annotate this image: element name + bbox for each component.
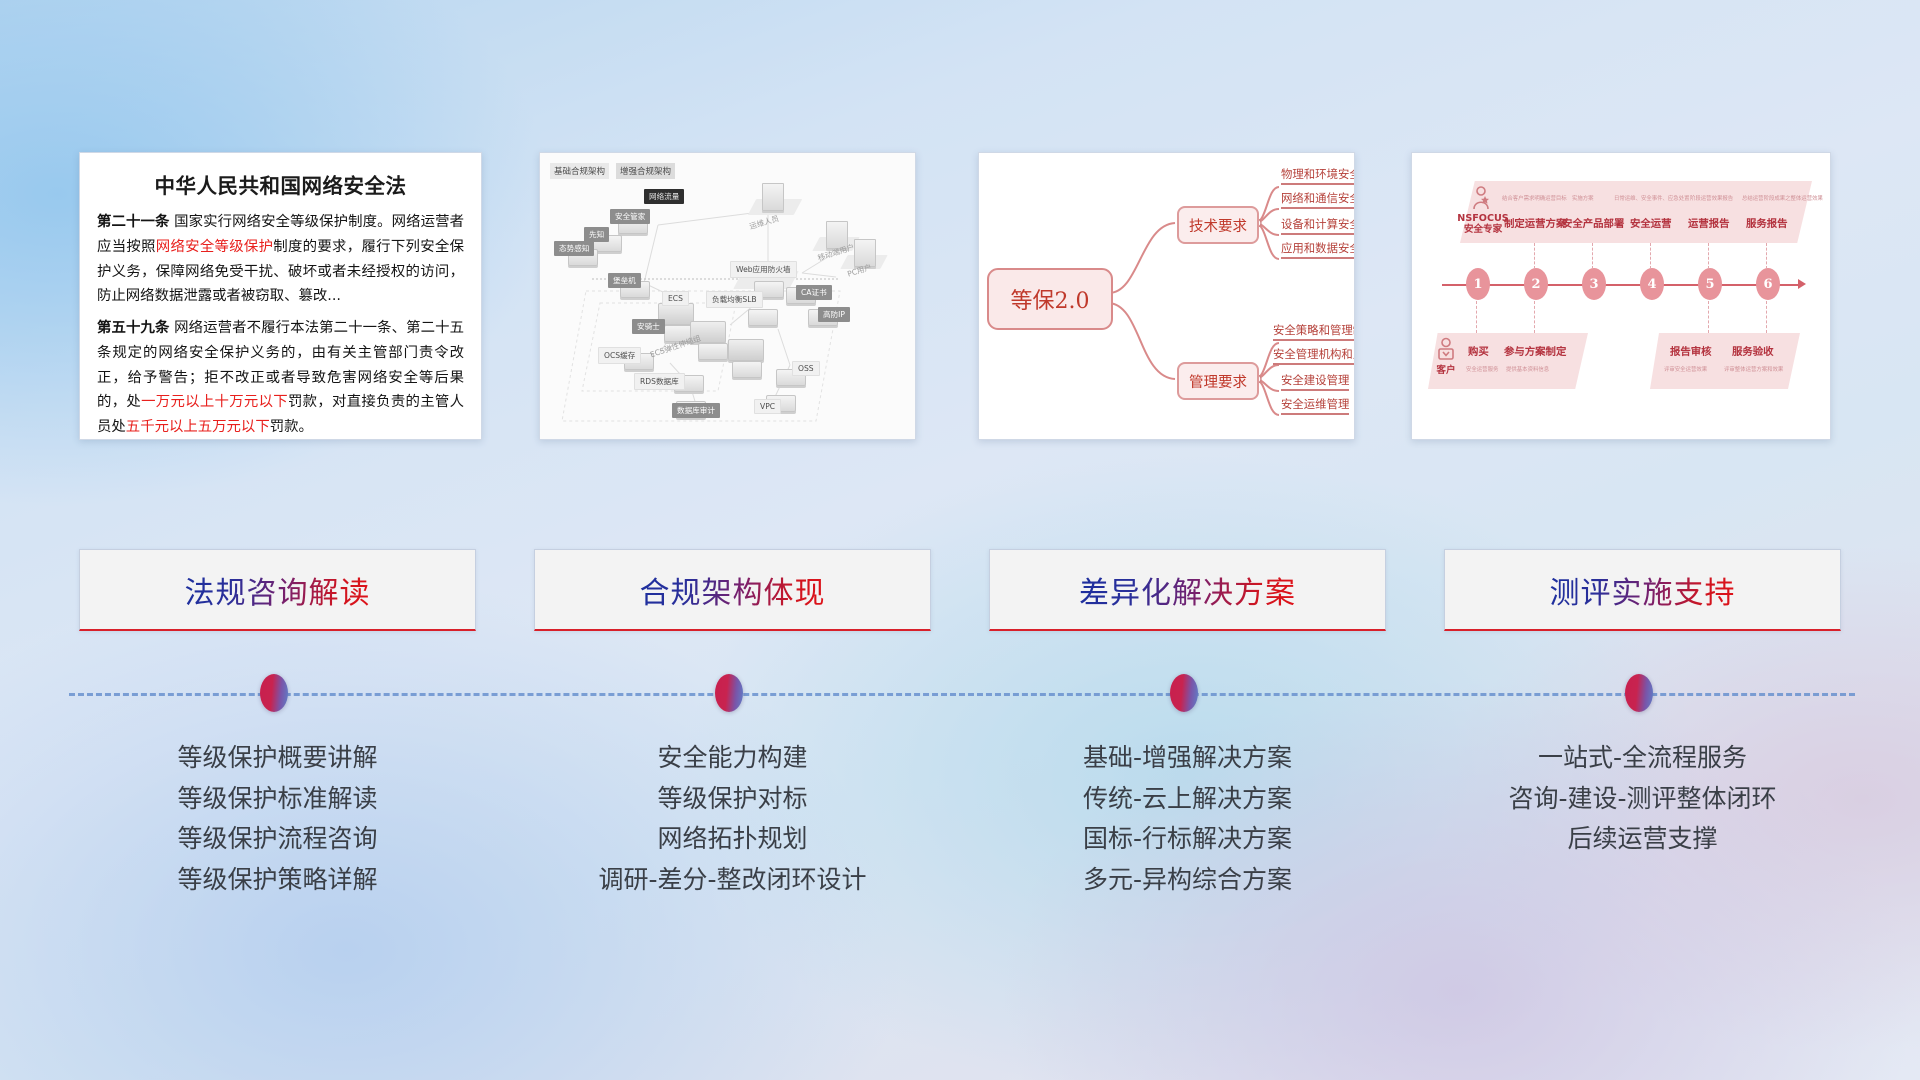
list-item: 等级保护对标 [534, 779, 931, 820]
process-bottom-label: 购买 [1468, 343, 1489, 358]
architecture-canvas: 基础合规架构 增强合规架构 [540, 153, 915, 439]
list-item: 调研-差分-整改闭环设计 [534, 860, 931, 901]
law-run-highlight: 网络安全等级保护 [156, 239, 274, 255]
list-item: 多元-异构综合方案 [989, 860, 1386, 901]
process-top-label: 安全运营 [1630, 215, 1672, 230]
process-role-provider-subtitle: 安全专家 [1464, 224, 1502, 235]
arch-label-db-audit: 数据库审计 [672, 403, 720, 418]
mindmap-leaf: 网络和通信安全 [1281, 191, 1355, 209]
process-top-note: 日常运维、安全事件、应急处置 [1614, 194, 1689, 202]
process-top-label: 运营报告 [1688, 215, 1730, 230]
section-title-box-4[interactable]: 测评实施支持 [1444, 549, 1841, 631]
process-tick [1766, 243, 1768, 269]
process-tick [1534, 301, 1536, 333]
arch-label-xianzhi: 先知 [584, 227, 609, 242]
list-item: 后续运营支撑 [1444, 819, 1841, 860]
section-title-label: 合规架构体现 [640, 568, 826, 612]
law-article-number: 第五十九条 [97, 320, 169, 336]
section-title-box-3[interactable]: 差异化解决方案 [989, 549, 1386, 631]
section-items-1: 等级保护概要讲解 等级保护标准解读 等级保护流程咨询 等级保护策略详解 [79, 738, 476, 900]
card-cybersecurity-law: 中华人民共和国网络安全法 第二十一条 国家实行网络安全等级保护制度。网络运营者应… [79, 152, 482, 440]
list-item: 基础-增强解决方案 [989, 738, 1386, 779]
law-run-text: 罚款。 [270, 419, 313, 435]
list-item: 等级保护概要讲解 [79, 738, 476, 779]
process-bottom-label: 服务验收 [1732, 343, 1774, 358]
law-title: 中华人民共和国网络安全法 [97, 169, 464, 199]
process-role-provider-name: NSFOCUS [1457, 213, 1508, 224]
arch-label-oss: OSS [792, 361, 820, 376]
section-items-2: 安全能力构建 等级保护对标 网络拓扑规划 调研-差分-整改闭环设计 [534, 738, 931, 900]
process-band-customer-right [1650, 333, 1800, 389]
arch-label-ca: CA证书 [796, 285, 832, 300]
arch-label-bastion: 堡垒机 [608, 273, 641, 288]
arch-label-ecs: ECS [662, 291, 689, 306]
section-title-label: 法规咨询解读 [185, 568, 371, 612]
process-tick [1766, 301, 1768, 333]
mindmap-root-node: 等保2.0 [987, 268, 1113, 330]
card-service-process-timeline: NSFOCUS 安全专家 客户 1 2 3 4 5 6 结合客户需求明确运营目标 [1411, 152, 1831, 440]
list-item: 国标-行标解决方案 [989, 819, 1386, 860]
timeline-dot-4[interactable] [1625, 674, 1653, 712]
arch-label-ocs: OCS缓存 [598, 347, 641, 364]
list-item: 一站式-全流程服务 [1444, 738, 1841, 779]
arch-label-vpc: VPC [754, 399, 781, 414]
list-item: 安全能力构建 [534, 738, 931, 779]
list-item: 网络拓扑规划 [534, 819, 931, 860]
arch-label-traffic: 网络流量 [644, 189, 684, 204]
process-top-note: 结合客户需求明确运营目标 [1502, 194, 1567, 202]
process-step-node[interactable]: 6 [1756, 268, 1780, 300]
process-tick [1708, 301, 1710, 333]
process-top-note: 总结运营阶段成果之整体运营效果 [1742, 194, 1823, 202]
section-items-3: 基础-增强解决方案 传统-云上解决方案 国标-行标解决方案 多元-异构综合方案 [989, 738, 1386, 900]
process-top-label: 制定运营方案 [1504, 215, 1566, 230]
list-item: 等级保护策略详解 [79, 860, 476, 901]
process-bottom-label: 参与方案制定 [1504, 343, 1566, 358]
card-dengbao-mindmap: 等保2.0 技术要求 管理要求 物理和环境安全 网络和通信安全 设备和计算安全 … [978, 152, 1355, 440]
timeline-dot-1[interactable] [260, 674, 288, 712]
mindmap-leaf: 物理和环境安全 [1281, 167, 1355, 185]
arch-node-icon [732, 361, 762, 378]
process-tick [1476, 301, 1478, 333]
mindmap-leaf: 安全策略和管理制度 [1273, 323, 1355, 341]
section-items-4: 一站式-全流程服务 咨询-建设-测评整体闭环 后续运营支撑 [1444, 738, 1841, 860]
section-title-box-2[interactable]: 合规架构体现 [534, 549, 931, 631]
process-axis-line [1442, 284, 1802, 286]
section-title-label: 差异化解决方案 [1079, 568, 1296, 612]
mindmap-leaf: 安全运维管理 [1281, 397, 1349, 415]
arch-label-situation: 态势感知 [554, 241, 594, 256]
arch-label-steward: 安全管家 [610, 209, 650, 224]
mindmap-leaf: 应用和数据安全 [1281, 241, 1355, 259]
process-bottom-note: 评审整体运营方案和效果 [1724, 365, 1783, 373]
process-step-node[interactable]: 4 [1640, 268, 1664, 300]
mindmap-branch-management: 管理要求 [1177, 362, 1259, 400]
process-tick [1592, 243, 1594, 269]
infographic-root: 中华人民共和国网络安全法 第二十一条 国家实行网络安全等级保护制度。网络运营者应… [0, 0, 1920, 1080]
process-tick [1650, 243, 1652, 269]
arch-label-rds: RDS数据库 [634, 373, 685, 390]
mindmap-leaf: 安全建设管理 [1281, 373, 1349, 391]
timeline-dot-3[interactable] [1170, 674, 1198, 712]
law-paragraph-article-59: 第五十九条 网络运营者不履行本法第二十一条、第二十五条规定的网络安全保护义务的，… [97, 316, 464, 440]
law-run-highlight: 五千元以上五万元以下 [126, 419, 270, 435]
process-step-node[interactable]: 5 [1698, 268, 1722, 300]
list-item: 等级保护标准解读 [79, 779, 476, 820]
arch-node-icon [748, 309, 778, 326]
process-tick [1708, 243, 1710, 269]
process-role-customer-name: 客户 [1436, 365, 1455, 376]
arch-node-icon [728, 339, 764, 361]
arch-node-icon [762, 183, 784, 211]
process-top-note: 实施方案 [1572, 194, 1594, 202]
mindmap-leaf: 安全管理机构和人员 [1273, 347, 1355, 365]
timeline-dot-2[interactable] [715, 674, 743, 712]
arch-label-slb: 负载均衡SLB [706, 291, 763, 308]
list-item: 咨询-建设-测评整体闭环 [1444, 779, 1841, 820]
list-item: 传统-云上解决方案 [989, 779, 1386, 820]
list-item: 等级保护流程咨询 [79, 819, 476, 860]
process-band-provider [1460, 181, 1812, 243]
arch-label-waf: Web应用防火墙 [730, 261, 797, 278]
process-bottom-note: 提供基本资料信息 [1506, 365, 1549, 373]
section-title-box-1[interactable]: 法规咨询解读 [79, 549, 476, 631]
process-step-node[interactable]: 3 [1582, 268, 1606, 300]
process-top-note: 阶段运营效果报告 [1690, 194, 1733, 202]
process-step-node[interactable]: 1 [1466, 268, 1490, 300]
security-expert-icon [1468, 185, 1494, 211]
process-role-customer: 客户 [1430, 365, 1462, 376]
arch-node-icon [698, 343, 728, 360]
card-cloud-architecture-diagram: 基础合规架构 增强合规架构 [539, 152, 916, 440]
process-axis-arrow-icon [1798, 279, 1806, 289]
law-article-number: 第二十一条 [97, 214, 169, 230]
arch-label-antiddos: 高防IP [818, 307, 850, 322]
timeline-dashed-rail [69, 693, 1855, 696]
process-step-node[interactable]: 2 [1524, 268, 1548, 300]
process-bottom-label: 报告审核 [1670, 343, 1712, 358]
law-paragraph-article-21: 第二十一条 国家实行网络安全等级保护制度。网络运营者应当按照网络安全等级保护制度… [97, 210, 464, 309]
process-top-label: 服务报告 [1746, 215, 1788, 230]
customer-icon [1434, 337, 1458, 363]
section-title-label: 测评实施支持 [1550, 568, 1736, 612]
process-tick [1534, 243, 1536, 269]
process-bottom-note: 评审安全运营效果 [1664, 365, 1707, 373]
mindmap-branch-technical: 技术要求 [1177, 206, 1259, 244]
mindmap-leaf: 设备和计算安全 [1281, 217, 1355, 235]
law-run-highlight: 一万元以上十万元以下 [141, 394, 288, 410]
process-top-label: 安全产品部署 [1562, 215, 1624, 230]
process-bottom-note: 安全运营服务 [1466, 365, 1498, 373]
arch-label-anqishi: 安骑士 [632, 319, 665, 334]
